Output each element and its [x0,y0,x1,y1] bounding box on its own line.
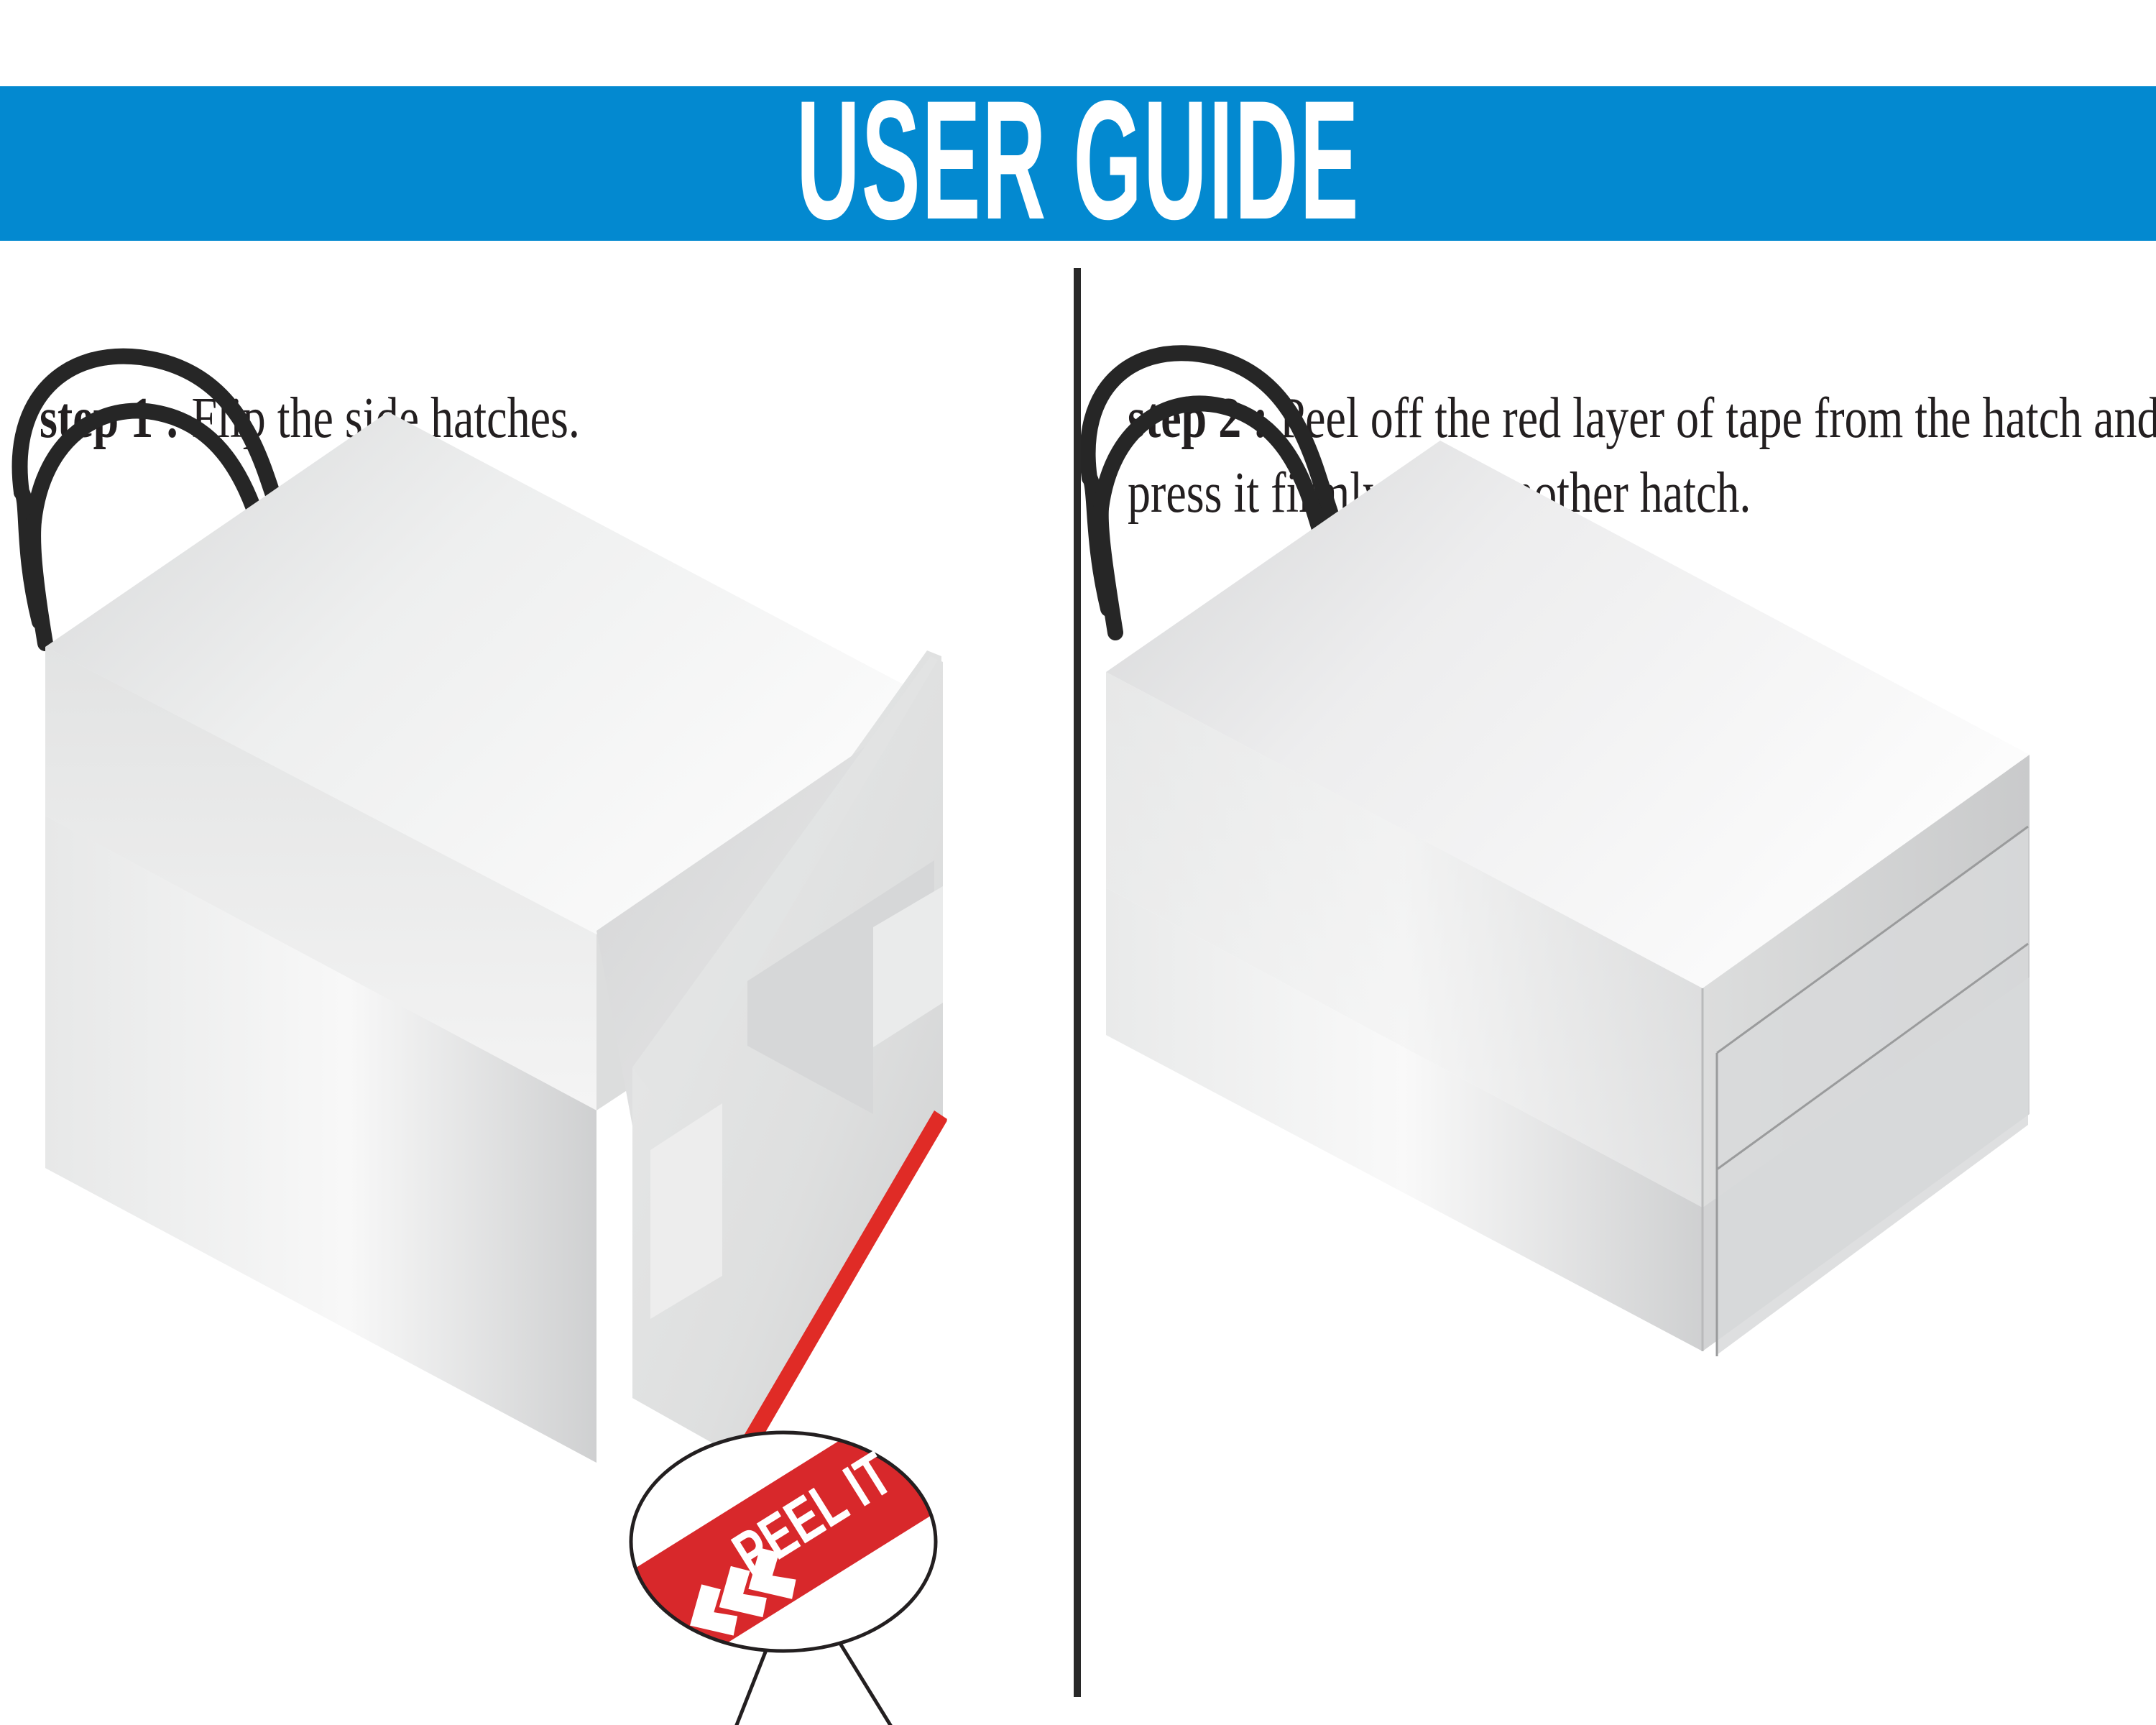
hatch-main-panel [596,699,938,1204]
tape-peel-it-label: PEEL IT [695,1531,833,1638]
step-2-instruction: Peel off the red layer of tape from the … [1128,387,2156,525]
flap-fold-shadow [632,656,938,1114]
box-front-face [45,647,596,1110]
flap-window-tab [873,886,943,1047]
step-2-panel: step 2 : Peel off the red layer of tape … [1081,241,2156,1725]
step-1-panel: step 1 : Flip the side hatches. [0,241,1074,1725]
box-front-face-grad [1106,672,1703,1207]
hatch-rear-panel [629,650,941,1305]
box-lid-left-side [45,647,596,1110]
seam-lines [1717,827,2028,1356]
step-2-text: step 2 : Peel off the red layer of tape … [1128,381,2156,530]
hatch-inner-cavity [747,841,934,1110]
tape-label-text: PEEL IT [745,1550,810,1602]
step-1-illustration: PEEL IT [0,241,1074,1725]
box-body-front [1106,888,1703,1351]
tape-label-outline [695,1531,833,1638]
flap-left-small-tab [650,1103,722,1319]
hatch-inner-tab [855,913,934,1057]
callout-leader-lines [690,1592,895,1725]
box-right-face [596,701,934,1110]
hatch-left-tab [647,1089,719,1305]
box-right-face [1703,755,2030,1207]
step-1-label: step 1 : [40,387,180,450]
hatch-front-flap [625,658,934,1362]
box-lid-top [45,412,934,934]
flap-window [747,860,934,1114]
callout-arrows [675,1540,803,1652]
peel-it-callout: PEEL IT [553,1368,1014,1715]
red-tape-strip-lower [690,1112,947,1536]
box-body-right [1703,977,2030,1351]
callout-text: PEEL IT [722,1440,904,1589]
user-guide-page: USER GUIDE step 1 : Flip the side hatche… [0,0,2156,1725]
header-banner: USER GUIDE [0,86,2156,241]
tape-label-arrows [719,1588,766,1628]
callout-ellipse-outline [631,1432,936,1651]
flap-visible [632,656,943,1463]
step-2-label: step 2 : [1128,387,1268,450]
box-front-face [1106,672,1703,1207]
callout-red-band [553,1368,1014,1715]
panel-divider [1074,268,1081,1697]
step-1-instruction: Flip the side hatches. [180,387,580,450]
red-tape-strip [726,1110,947,1476]
page-title: USER GUIDE [796,88,1360,234]
box-front-large [45,816,596,1463]
box-front-panel [45,816,719,1463]
sealed-flap-panel [1717,827,2028,1355]
step-1-text: step 1 : Flip the side hatches. [40,381,1046,456]
callout-ellipse-bg [631,1432,936,1651]
